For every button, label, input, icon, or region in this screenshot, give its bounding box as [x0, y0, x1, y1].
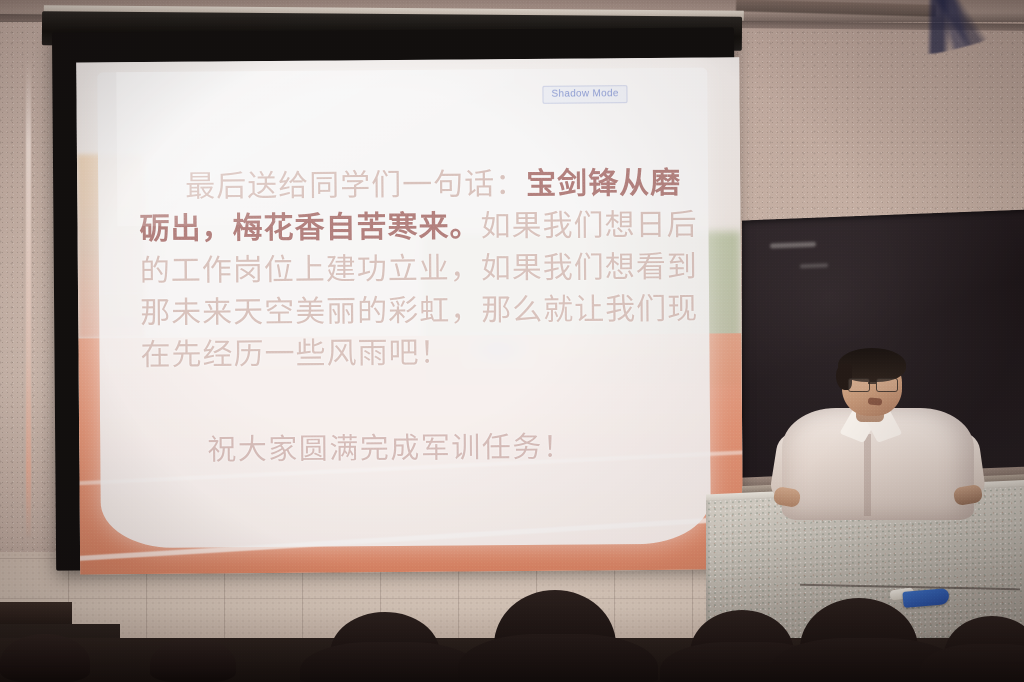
speaker-right-hand — [953, 484, 984, 507]
chalk-mark — [770, 242, 816, 249]
wall-light-strip — [26, 58, 31, 538]
glasses-icon — [848, 378, 898, 390]
glasses-lens-right — [876, 378, 898, 392]
speaker-shirt-placket — [864, 434, 871, 516]
screen-frame: Shadow Mode 最后送给同学们一句话：宝剑锋从磨砺出，梅花香自苦寒来。如… — [52, 27, 738, 570]
glasses-lens-left — [848, 378, 870, 392]
projection-screen: Shadow Mode 最后送给同学们一句话：宝剑锋从磨砺出，梅花香自苦寒来。如… — [38, 5, 746, 575]
slide-vignette — [76, 57, 743, 574]
chalk-mark — [800, 263, 828, 268]
speaker-mouth — [868, 397, 883, 405]
screen-surface: Shadow Mode 最后送给同学们一句话：宝剑锋从磨砺出，梅花香自苦寒来。如… — [76, 57, 743, 574]
audience-shoulder — [458, 634, 658, 682]
glasses-bridge — [868, 382, 876, 384]
audience-shoulder — [300, 642, 480, 682]
lecture-hall-photo: Shadow Mode 最后送给同学们一句话：宝剑锋从磨砺出，梅花香自苦寒来。如… — [0, 0, 1024, 682]
speaker-person — [768, 348, 988, 518]
audience-head — [150, 638, 236, 682]
